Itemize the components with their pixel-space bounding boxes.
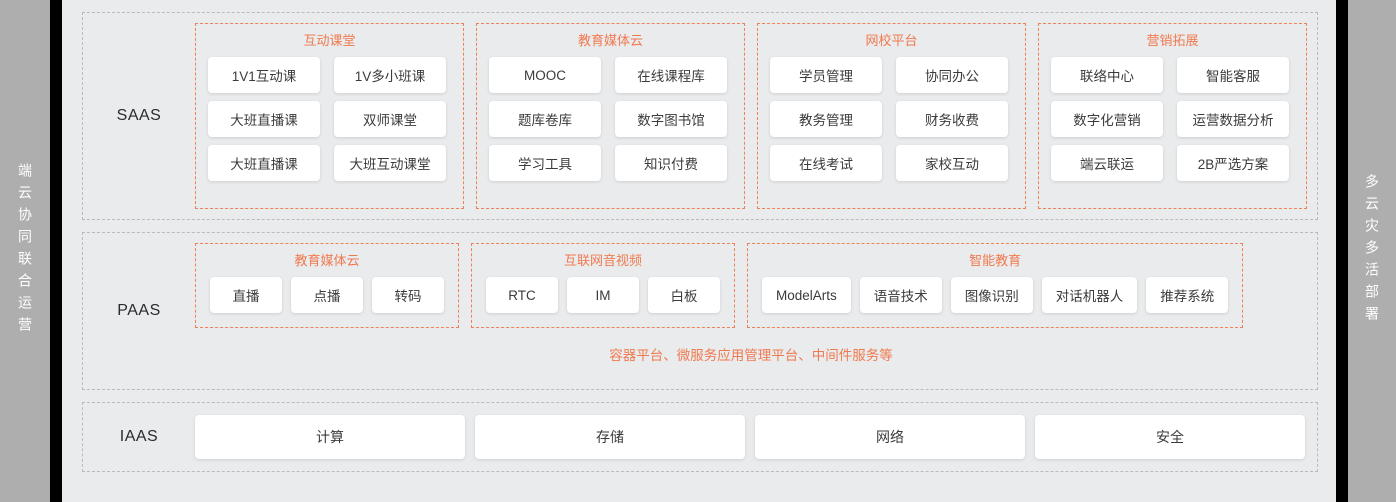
service-card[interactable]: 智能客服 [1177,57,1289,93]
layer-paas: PAAS 教育媒体云 直播 点播 转码 互联网音视频 RTC [82,232,1318,390]
service-card[interactable]: 网络 [755,415,1025,459]
service-card[interactable]: 联络中心 [1051,57,1163,93]
service-card[interactable]: 直播 [210,277,282,313]
right-rail-label: 多云灾多活部署 [1365,174,1379,328]
service-card[interactable]: 图像识别 [951,277,1033,313]
group-saas-1: 教育媒体云 MOOC 在线课程库 题库卷库 数字图书馆 学习工具 知识付费 [476,23,745,209]
layer-paas-body: 教育媒体云 直播 点播 转码 互联网音视频 RTC IM 白板 [195,233,1317,389]
service-card[interactable]: 端云联运 [1051,145,1163,181]
layer-paas-label: PAAS [83,233,195,389]
group-paas-2: 智能教育 ModelArts 语音技术 图像识别 对话机器人 推荐系统 [747,243,1243,328]
service-card[interactable]: 白板 [648,277,720,313]
group-paas-1: 互联网音视频 RTC IM 白板 [471,243,735,328]
service-card[interactable]: 1V1互动课 [208,57,320,93]
service-card[interactable]: MOOC [489,57,601,93]
group-title: 营销拓展 [1146,30,1198,49]
service-card[interactable]: 大班互动课堂 [334,145,446,181]
service-card[interactable]: 运营数据分析 [1177,101,1289,137]
group-saas-0: 互动课堂 1V1互动课 1V多小班课 大班直播课 双师课堂 大班直播课 大班互动… [195,23,464,209]
group-items: RTC IM 白板 [486,277,720,313]
service-card[interactable]: 存储 [475,415,745,459]
service-card[interactable]: 在线课程库 [615,57,727,93]
layers-container: SAAS 互动课堂 1V1互动课 1V多小班课 大班直播课 双师课堂 大班直播课… [62,0,1336,502]
architecture-diagram: 端云协同联合运营 SAAS 互动课堂 1V1互动课 1V多小班课 大班直播课 双… [0,0,1396,502]
group-title: 教育媒体云 [294,250,359,269]
service-card[interactable]: 转码 [372,277,444,313]
service-card[interactable]: 家校互动 [896,145,1008,181]
service-card[interactable]: 学习工具 [489,145,601,181]
layer-iaas-body: 计算 存储 网络 安全 [195,403,1317,471]
service-card[interactable]: 财务收费 [896,101,1008,137]
group-items: 联络中心 智能客服 数字化营销 运营数据分析 端云联运 2B严选方案 [1051,57,1294,181]
group-paas-0: 教育媒体云 直播 点播 转码 [195,243,459,328]
group-title: 互联网音视频 [564,250,642,269]
right-divider [1336,0,1348,502]
layer-saas-body: 互动课堂 1V1互动课 1V多小班课 大班直播课 双师课堂 大班直播课 大班互动… [195,13,1317,219]
paas-footnote: 容器平台、微服务应用管理平台、中间件服务等 [195,328,1307,364]
service-card[interactable]: 协同办公 [896,57,1008,93]
service-card[interactable]: 计算 [195,415,465,459]
left-rail-label: 端云协同联合运营 [18,163,32,339]
group-items: MOOC 在线课程库 题库卷库 数字图书馆 学习工具 知识付费 [489,57,732,181]
service-card[interactable]: 数字化营销 [1051,101,1163,137]
service-card[interactable]: 2B严选方案 [1177,145,1289,181]
group-items: 1V1互动课 1V多小班课 大班直播课 双师课堂 大班直播课 大班互动课堂 [208,57,451,181]
service-card[interactable]: ModelArts [762,277,851,313]
group-title: 教育媒体云 [578,30,643,49]
group-items: ModelArts 语音技术 图像识别 对话机器人 推荐系统 [762,277,1228,313]
service-card[interactable]: 语音技术 [860,277,942,313]
group-title: 互动课堂 [303,30,355,49]
right-rail: 多云灾多活部署 [1348,0,1396,502]
service-card[interactable]: 1V多小班课 [334,57,446,93]
paas-groups: 教育媒体云 直播 点播 转码 互联网音视频 RTC IM 白板 [195,243,1307,328]
service-card[interactable]: 数字图书馆 [615,101,727,137]
service-card[interactable]: 学员管理 [770,57,882,93]
group-items: 直播 点播 转码 [210,277,444,313]
group-saas-2: 网校平台 学员管理 协同办公 教务管理 财务收费 在线考试 家校互动 [757,23,1026,209]
service-card[interactable]: 在线考试 [770,145,882,181]
left-rail: 端云协同联合运营 [0,0,50,502]
group-title: 网校平台 [865,30,917,49]
service-card[interactable]: 双师课堂 [334,101,446,137]
group-saas-3: 营销拓展 联络中心 智能客服 数字化营销 运营数据分析 端云联运 2B严选方案 [1038,23,1307,209]
service-card[interactable]: 点播 [291,277,363,313]
service-card[interactable]: 大班直播课 [208,145,320,181]
service-card[interactable]: 对话机器人 [1042,277,1138,313]
layer-iaas: IAAS 计算 存储 网络 安全 [82,402,1318,472]
layer-iaas-label: IAAS [83,403,195,471]
service-card[interactable]: 教务管理 [770,101,882,137]
layer-saas: SAAS 互动课堂 1V1互动课 1V多小班课 大班直播课 双师课堂 大班直播课… [82,12,1318,220]
service-card[interactable]: RTC [486,277,558,313]
service-card[interactable]: 大班直播课 [208,101,320,137]
left-divider [50,0,62,502]
service-card[interactable]: 题库卷库 [489,101,601,137]
layer-saas-label: SAAS [83,13,195,219]
group-items: 学员管理 协同办公 教务管理 财务收费 在线考试 家校互动 [770,57,1013,181]
service-card[interactable]: 知识付费 [615,145,727,181]
service-card[interactable]: 安全 [1035,415,1305,459]
service-card[interactable]: IM [567,277,639,313]
service-card[interactable]: 推荐系统 [1146,277,1228,313]
group-title: 智能教育 [969,250,1021,269]
